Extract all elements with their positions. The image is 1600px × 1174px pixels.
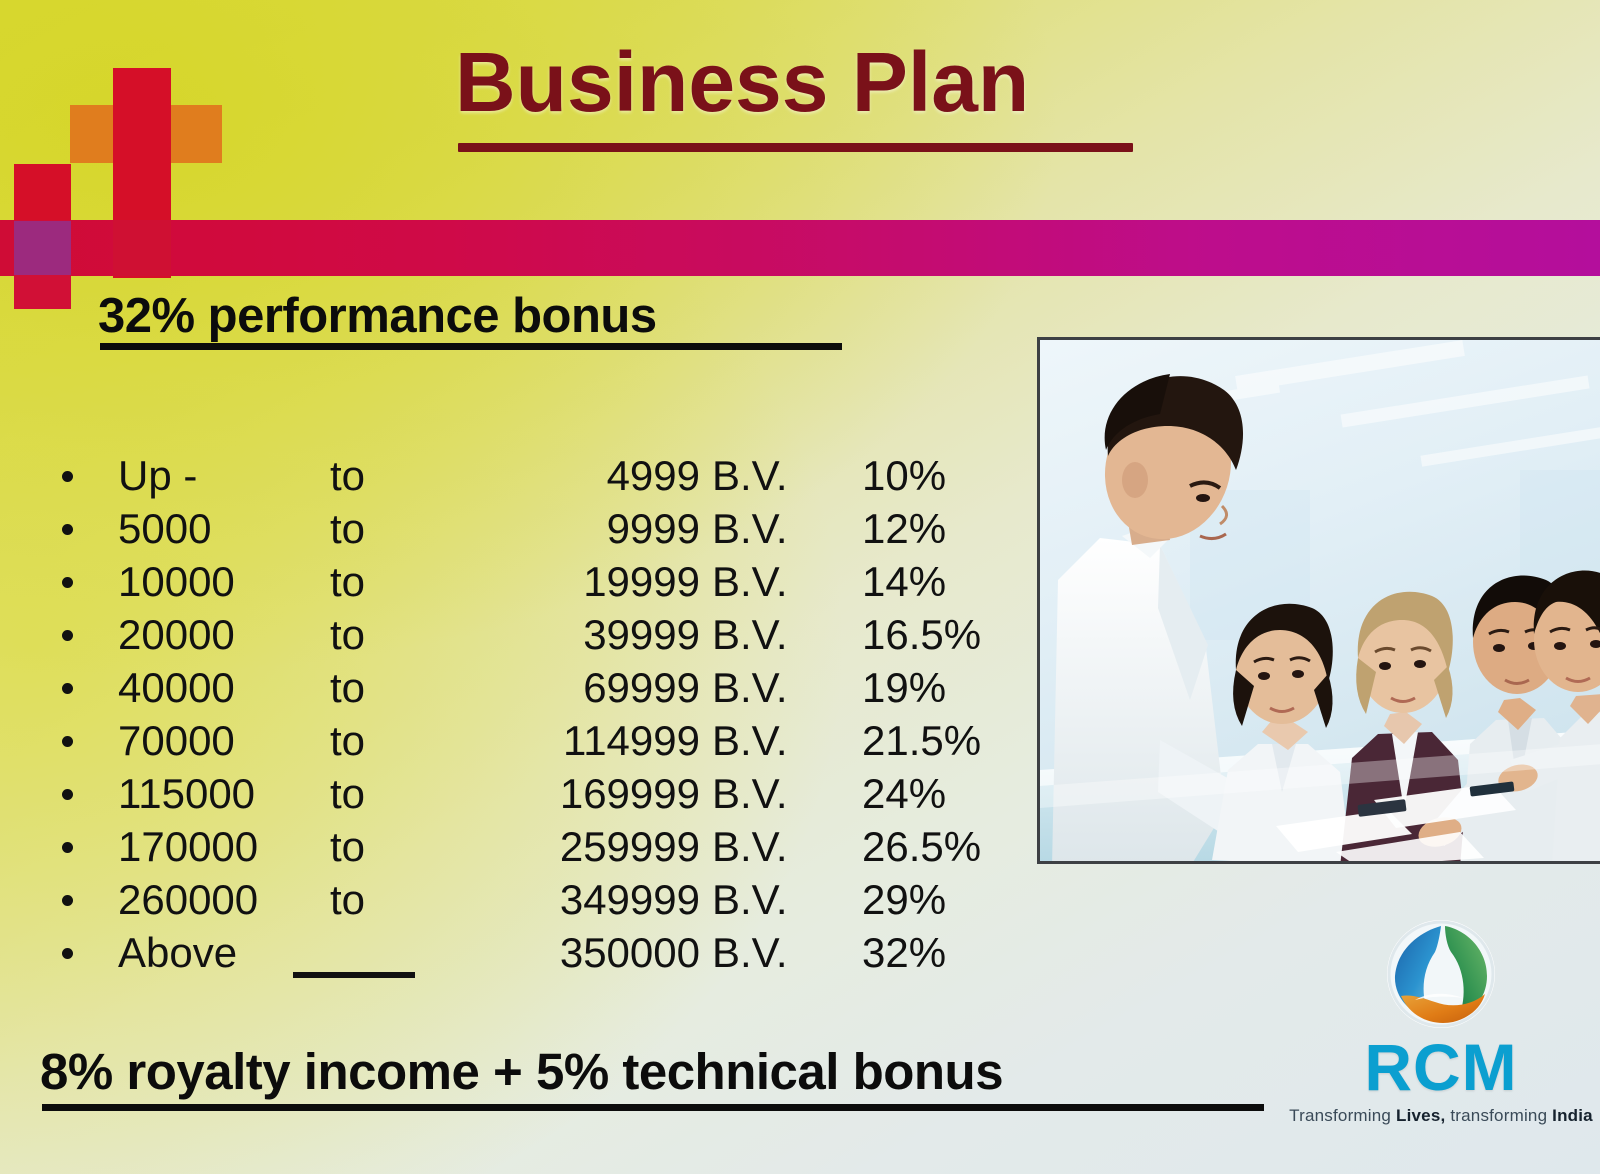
slab-upper-value: 39999 <box>440 611 700 659</box>
slab-from-value: Up - <box>118 452 293 500</box>
slab-percent-value: 32% <box>862 929 1012 977</box>
slab-to-label: to <box>330 876 365 924</box>
slab-upper-value: 349999 <box>440 876 700 924</box>
slab-from-value: 40000 <box>118 664 293 712</box>
tagline-lives: Lives, <box>1396 1106 1445 1125</box>
slab-percent-value: 14% <box>862 558 1012 606</box>
slab-unit-label: B.V. <box>712 717 788 765</box>
slab-from-value: 260000 <box>118 876 293 924</box>
bonus-slab-row: Up -to4999B.V.10% <box>0 452 1030 505</box>
magenta-divider-band <box>0 220 1600 276</box>
bullet-icon <box>62 736 73 747</box>
tagline-india: India <box>1552 1106 1593 1125</box>
slab-to-label: to <box>330 611 365 659</box>
slab-percent-value: 21.5% <box>862 717 1012 765</box>
slab-percent-value: 16.5% <box>862 611 1012 659</box>
slab-to-label: to <box>330 505 365 553</box>
slab-percent-value: 24% <box>862 770 1012 818</box>
slab-from-value: 70000 <box>118 717 293 765</box>
rcm-wordmark: RCM <box>1282 1034 1600 1100</box>
subheading: 32% performance bonus <box>98 288 657 344</box>
slab-percent-value: 29% <box>862 876 1012 924</box>
bonus-slab-row: 10000to19999B.V.14% <box>0 558 1030 611</box>
slab-to-label: to <box>330 717 365 765</box>
slab-from-value: 10000 <box>118 558 293 606</box>
slab-unit-label: B.V. <box>712 823 788 871</box>
bullet-icon <box>62 577 73 588</box>
bullet-icon <box>62 895 73 906</box>
bullet-icon <box>62 842 73 853</box>
slab-to-label: to <box>330 452 365 500</box>
bullet-icon <box>62 683 73 694</box>
rcm-logo: RCM Transforming Lives, transforming Ind… <box>1282 918 1600 1128</box>
slab-to-label: to <box>330 823 365 871</box>
slab-to-label: to <box>330 664 365 712</box>
slab-from-value: 115000 <box>118 770 293 818</box>
bonus-slab-row: 170000to259999B.V.26.5% <box>0 823 1030 876</box>
slab-upper-value: 9999 <box>440 505 700 553</box>
bonus-slab-row: Above350000B.V.32% <box>0 929 1030 982</box>
decor-square-red-left <box>14 164 71 222</box>
bullet-icon <box>62 471 73 482</box>
rcm-emblem-icon <box>1385 918 1497 1030</box>
slab-upper-value: 114999 <box>440 717 700 765</box>
bonus-slab-row: 115000to169999B.V.24% <box>0 770 1030 823</box>
slab-upper-value: 19999 <box>440 558 700 606</box>
slab-to-label: to <box>330 558 365 606</box>
slab-from-value: 170000 <box>118 823 293 871</box>
decor-square-red-bottom <box>14 275 71 309</box>
slab-unit-label: B.V. <box>712 611 788 659</box>
slab-percent-value: 10% <box>862 452 1012 500</box>
slab-from-value: Above <box>118 929 293 977</box>
bonus-slab-row: 260000to349999B.V.29% <box>0 876 1030 929</box>
tagline-middle: transforming <box>1445 1106 1552 1125</box>
page-title-underline <box>458 143 1133 152</box>
slab-unit-label: B.V. <box>712 505 788 553</box>
slab-from-value: 20000 <box>118 611 293 659</box>
bonus-slab-list: Up -to4999B.V.10%5000to9999B.V.12%10000t… <box>0 452 1030 982</box>
slab-blank-rule <box>293 972 415 978</box>
slab-unit-label: B.V. <box>712 929 788 977</box>
slab-unit-label: B.V. <box>712 452 788 500</box>
team-meeting-illustration <box>1040 340 1600 864</box>
bullet-icon <box>62 524 73 535</box>
slab-upper-value: 69999 <box>440 664 700 712</box>
slab-upper-value: 259999 <box>440 823 700 871</box>
bullet-icon <box>62 789 73 800</box>
slab-unit-label: B.V. <box>712 558 788 606</box>
footer-statement: 8% royalty income + 5% technical bonus <box>40 1042 1003 1101</box>
rcm-tagline: Transforming Lives, transforming India <box>1282 1106 1600 1126</box>
slab-unit-label: B.V. <box>712 770 788 818</box>
slab-percent-value: 19% <box>862 664 1012 712</box>
footer-underline <box>42 1104 1264 1111</box>
bonus-slab-row: 5000to9999B.V.12% <box>0 505 1030 558</box>
tagline-prefix: Transforming <box>1289 1106 1396 1125</box>
subheading-underline <box>100 343 842 350</box>
decor-square-purple <box>14 221 71 280</box>
page-title: Business Plan <box>455 38 1029 126</box>
slab-upper-value: 350000 <box>440 929 700 977</box>
team-meeting-photo <box>1037 337 1600 864</box>
bonus-slab-row: 20000to39999B.V.16.5% <box>0 611 1030 664</box>
slide-canvas: Business Plan 32% performance bonus Up -… <box>0 0 1600 1174</box>
slab-unit-label: B.V. <box>712 876 788 924</box>
slab-percent-value: 26.5% <box>862 823 1012 871</box>
bonus-slab-row: 70000to114999B.V.21.5% <box>0 717 1030 770</box>
bullet-icon <box>62 630 73 641</box>
bonus-slab-row: 40000to69999B.V.19% <box>0 664 1030 717</box>
slab-to-label: to <box>330 770 365 818</box>
bullet-icon <box>62 948 73 959</box>
slab-unit-label: B.V. <box>712 664 788 712</box>
decor-bar-red-over-band <box>113 220 171 276</box>
slab-percent-value: 12% <box>862 505 1012 553</box>
slab-from-value: 5000 <box>118 505 293 553</box>
slab-upper-value: 169999 <box>440 770 700 818</box>
slab-upper-value: 4999 <box>440 452 700 500</box>
